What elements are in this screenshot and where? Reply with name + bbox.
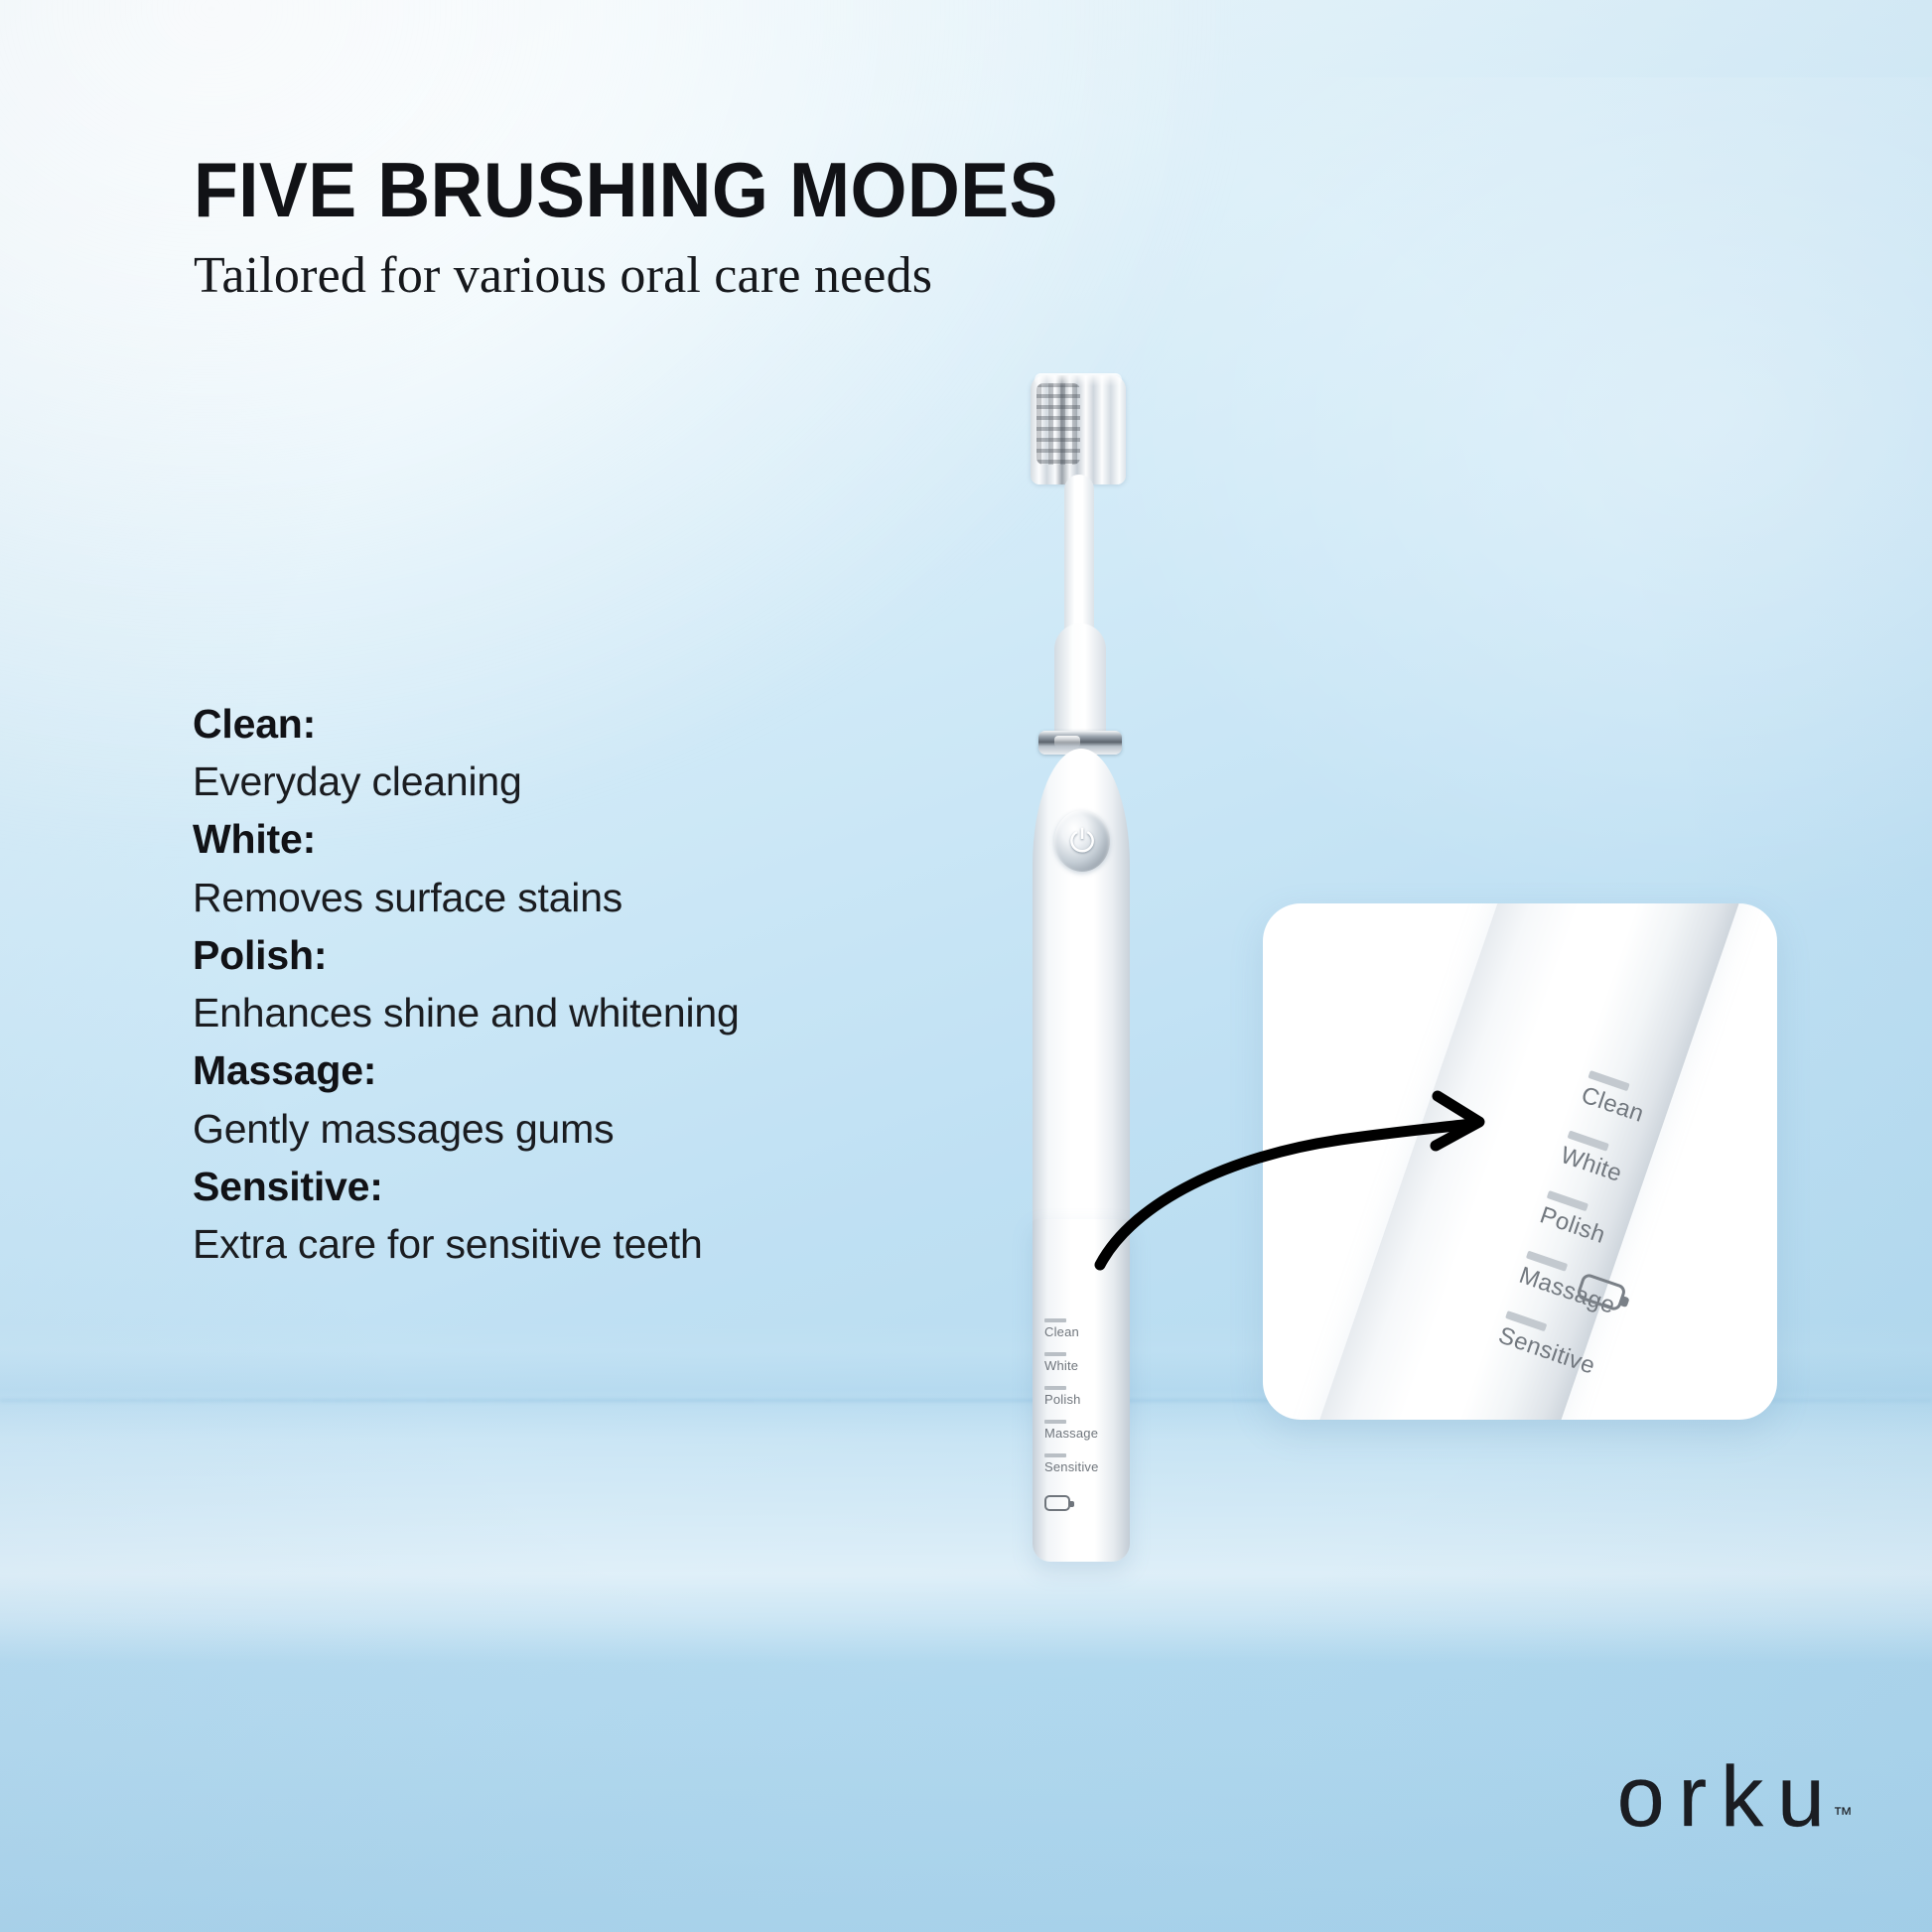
handle-mode-polish[interactable]: Polish [1044,1386,1124,1406]
mode-term: Clean: [193,695,947,753]
handle-mode-white[interactable]: White [1044,1352,1124,1372]
power-button[interactable]: ⏻ [1054,810,1110,872]
handle-mode-sensitive[interactable]: Sensitive [1044,1453,1124,1473]
power-icon: ⏻ [1069,825,1094,857]
list-item: White: Removes surface stains [193,810,947,925]
mode-dash-icon [1044,1453,1066,1457]
mode-term: Polish: [193,926,947,984]
mode-term: White: [193,810,947,868]
handle-mode-label: Sensitive [1044,1460,1124,1473]
brush-neck-lower [1054,623,1106,743]
handle-mode-indicators: Clean White Polish Massage Sensitive [1044,1318,1124,1487]
mode-dash-icon [1044,1386,1066,1390]
list-item: Massage: Gently massages gums [193,1041,947,1157]
list-item: Clean: Everyday cleaning [193,695,947,810]
brush-head-bristles [1031,375,1126,484]
mode-term: Sensitive: [193,1158,947,1215]
handle-mode-label: Polish [1044,1393,1124,1406]
mode-description: Removes surface stains [193,869,947,926]
mode-term: Massage: [193,1041,947,1099]
pointer-arrow [1042,1052,1509,1330]
page-subtitle: Tailored for various oral care needs [194,246,1113,305]
handle-mode-label: Massage [1044,1427,1124,1440]
list-item: Polish: Enhances shine and whitening [193,926,947,1041]
electric-toothbrush: ⏻ Clean White Polish Massage Sensitive [993,375,1172,1567]
brush-head-highlight [1035,373,1122,386]
mode-description: Everyday cleaning [193,753,947,810]
mode-description: Extra care for sensitive teeth [193,1215,947,1273]
brand-logo: orku ™ [1617,1758,1853,1837]
battery-icon [1044,1495,1070,1511]
logo-wordmark: orku [1617,1758,1839,1837]
brushing-modes-list: Clean: Everyday cleaning White: Removes … [193,695,947,1273]
handle-mode-massage[interactable]: Massage [1044,1420,1124,1440]
header: FIVE BRUSHING MODES Tailored for various… [194,151,1113,305]
trademark-symbol: ™ [1833,1804,1853,1827]
list-item: Sensitive: Extra care for sensitive teet… [193,1158,947,1273]
mode-dash-icon [1044,1420,1066,1424]
page-title: FIVE BRUSHING MODES [194,151,1058,228]
mode-dash-icon [1044,1352,1066,1356]
mode-description: Gently massages gums [193,1100,947,1158]
mode-description: Enhances shine and whitening [193,984,947,1041]
handle-mode-label: White [1044,1359,1124,1372]
